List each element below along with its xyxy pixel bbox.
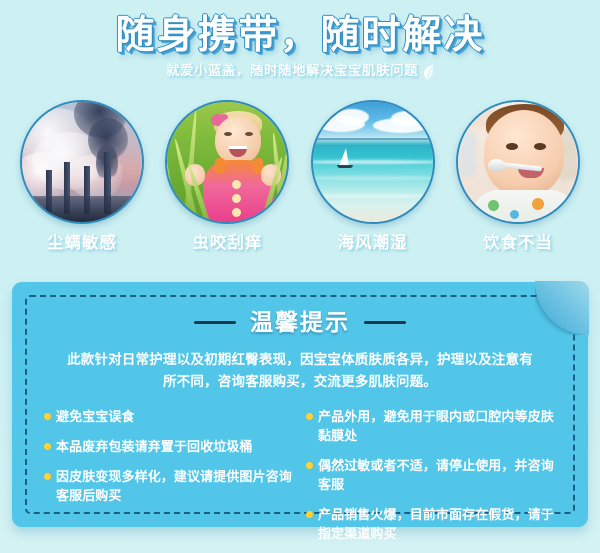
problem-label: 饮食不当: [452, 233, 584, 253]
problem-item-dust-mite[interactable]: 尘螨敏感: [16, 100, 148, 265]
tip-text: 偶然过敏或者不适，请停止使用，并咨询客服: [318, 456, 556, 494]
sailboat-hull: [337, 165, 353, 168]
divider-right: [364, 321, 406, 324]
leaf-icon: [423, 64, 434, 80]
spoon-bowl: [488, 159, 505, 172]
tips-title-row: 温馨提示: [38, 308, 562, 336]
problem-label: 海风潮湿: [307, 233, 439, 253]
problem-label: 尘螨敏感: [16, 233, 148, 253]
problem-item-insect-bite[interactable]: 虫咬刮痒: [161, 100, 293, 265]
promo-page: 随身携带，随时解决 就爱小蓝盖，随时随地解决宝宝肌肤问题: [0, 0, 600, 553]
tip-text: 避免宝宝误食: [56, 407, 135, 426]
tip-text: 产品外用，避免用于眼内或口腔内等皮肤黏膜处: [318, 407, 556, 445]
problem-image-insect-bite: [165, 100, 289, 224]
problem-image-dust-mite: [20, 100, 144, 224]
page-title: 随身携带，随时解决: [0, 0, 600, 58]
list-item: 产品外用，避免用于眼内或口腔内等皮肤黏膜处: [306, 407, 556, 445]
baby-face: [484, 110, 564, 196]
list-item: 因皮肤变现多样化，建议请提供图片咨询客服后购买: [44, 467, 294, 505]
problem-item-improper-diet[interactable]: 饮食不当: [452, 100, 584, 265]
problem-item-sea-humidity[interactable]: 海风潮湿: [307, 100, 439, 265]
problem-circle-row: 尘螨敏感: [0, 100, 600, 265]
list-item: 本品废弃包装请弃置于回收垃圾桶: [44, 437, 294, 456]
bullet-dot-icon: [44, 443, 51, 450]
header: 随身携带，随时解决 就爱小蓝盖，随时随地解决宝宝肌肤问题: [0, 0, 600, 96]
problem-image-sea-humidity: [311, 100, 435, 224]
baby-in-grass-photo: [167, 102, 287, 222]
bullet-dot-icon: [306, 413, 313, 420]
bullet-dot-icon: [306, 511, 313, 518]
page-subtitle: 就爱小蓝盖，随时随地解决宝宝肌肤问题: [166, 62, 418, 80]
divider-left: [194, 321, 236, 324]
tips-panel: 温馨提示 此款针对日常护理以及初期红臀表现，因宝宝体质肤质各异，护理以及注意有所…: [12, 282, 588, 527]
bullet-dot-icon: [306, 462, 313, 469]
bullet-dot-icon: [44, 413, 51, 420]
tips-title: 温馨提示: [250, 308, 350, 336]
list-item: 偶然过敏或者不适，请停止使用，并咨询客服: [306, 456, 556, 494]
pollution-photo: [22, 102, 142, 222]
beach-sea-photo: [313, 102, 433, 222]
problem-image-improper-diet: [456, 100, 580, 224]
tips-columns: 避免宝宝误食 本品废弃包装请弃置于回收垃圾桶 因皮肤变现多样化，建议请提供图片咨…: [38, 407, 562, 553]
tip-text: 本品废弃包装请弃置于回收垃圾桶: [56, 437, 253, 456]
subtitle-row: 就爱小蓝盖，随时随地解决宝宝肌肤问题: [0, 62, 600, 80]
tip-text: 产品销售火爆，目前市面存在假货，请于指定渠道购买: [318, 505, 556, 543]
bullet-dot-icon: [44, 473, 51, 480]
list-item: 产品销售火爆，目前市面存在假货，请于指定渠道购买: [306, 505, 556, 543]
problem-label: 虫咬刮痒: [161, 233, 293, 253]
tip-text: 因皮肤变现多样化，建议请提供图片咨询客服后购买: [56, 467, 294, 505]
tips-column-left: 避免宝宝误食 本品废弃包装请弃置于回收垃圾桶 因皮肤变现多样化，建议请提供图片咨…: [44, 407, 294, 553]
tips-paragraph: 此款针对日常护理以及初期红臀表现，因宝宝体质肤质各异，护理以及注意有所不同，咨询…: [64, 349, 536, 393]
list-item: 避免宝宝误食: [44, 407, 294, 426]
baby-with-spoon-photo: [458, 102, 578, 222]
tips-column-right: 产品外用，避免用于眼内或口腔内等皮肤黏膜处 偶然过敏或者不适，请停止使用，并咨询…: [306, 407, 556, 553]
